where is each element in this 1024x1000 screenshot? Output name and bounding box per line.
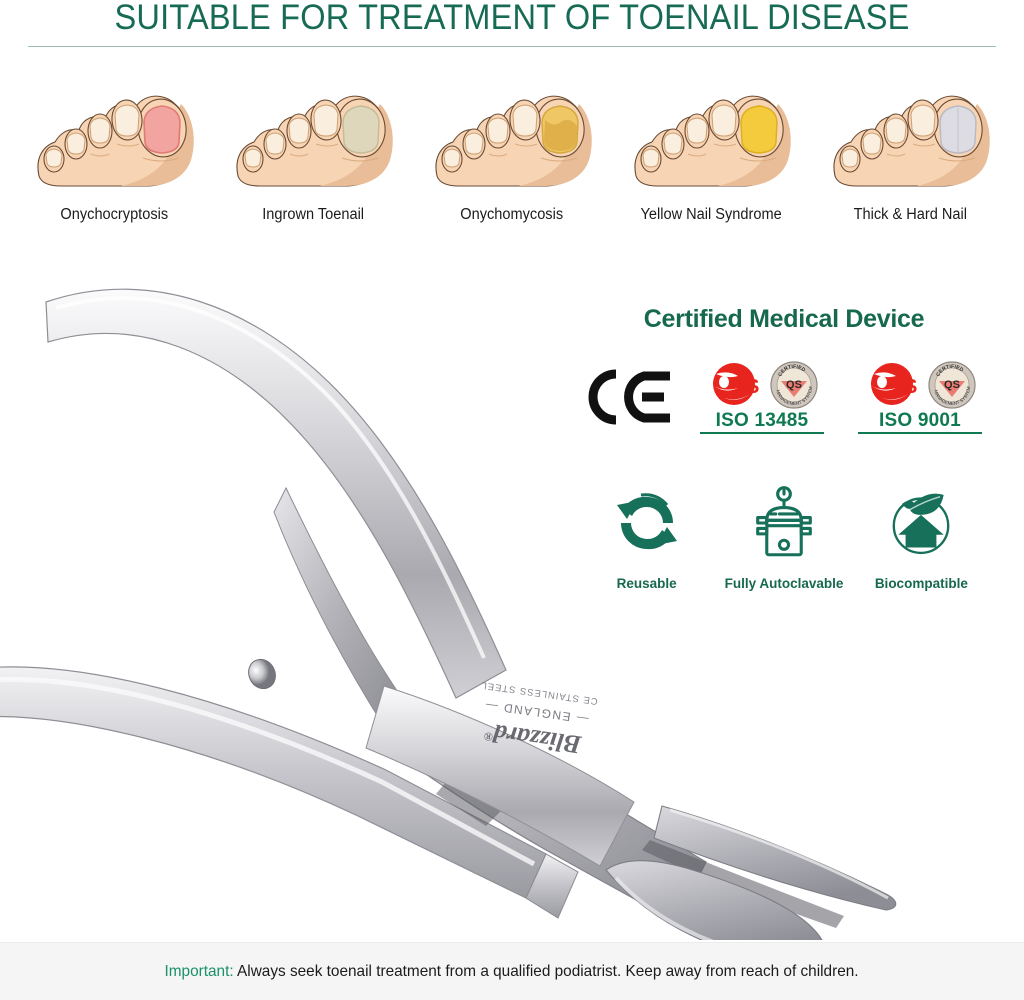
footer-body-text: Always seek toenail treatment from a qua… xyxy=(234,963,859,980)
qs-logo-icon: S xyxy=(864,362,926,408)
iso-9001-badge: S QS CERTIFIED MANAGEMENT SYSTEM xyxy=(850,360,990,434)
condition-item: Thick & Hard Nail xyxy=(812,58,1008,224)
recycle-icon xyxy=(608,480,686,566)
condition-label: Onychocryptosis xyxy=(60,206,168,224)
feature-reusable: Reusable xyxy=(578,480,715,591)
feature-icons-row: Reusable xyxy=(560,480,1008,591)
foot-ingrown-toenail-icon xyxy=(220,58,406,196)
condition-label: Yellow Nail Syndrome xyxy=(640,206,781,224)
condition-label: Onychomycosis xyxy=(461,206,564,224)
iso-underline xyxy=(858,432,982,434)
iso-9001-label: ISO 9001 xyxy=(879,411,961,431)
condition-label: Ingrown Toenail xyxy=(262,206,364,224)
foot-onychocryptosis-icon xyxy=(21,58,207,196)
product-infographic: SUITABLE FOR TREATMENT OF TOENAIL DISEAS… xyxy=(0,0,1024,1000)
condition-item: Onychomycosis xyxy=(414,58,610,224)
pivot-rivet xyxy=(244,655,281,693)
iso-13485-badge: S QS CERTIFIED MANAGEMENT SYSTEM xyxy=(692,360,832,434)
certified-seal-icon: QS CERTIFIED MANAGEMENT SYSTEM xyxy=(770,361,818,409)
iso-13485-label: ISO 13485 xyxy=(716,411,809,431)
footer-text: Important: Always seek toenail treatment… xyxy=(165,963,859,981)
condition-label: Thick & Hard Nail xyxy=(853,206,966,224)
certified-seal-icon: QS CERTIFIED MANAGEMENT SYSTEM xyxy=(928,361,976,409)
foot-onychomycosis-icon xyxy=(419,58,605,196)
header-divider xyxy=(28,46,996,47)
iso-underline xyxy=(700,432,824,434)
condition-item: Yellow Nail Syndrome xyxy=(613,58,809,224)
certified-medical-device-section: Certified Medical Device xyxy=(560,305,1008,591)
leaf-house-icon xyxy=(882,480,960,566)
footer-disclaimer-bar: Important: Always seek toenail treatment… xyxy=(0,942,1024,1000)
seal-center-text: QS xyxy=(944,379,960,391)
foot-thick-hard-nail-icon xyxy=(817,58,1003,196)
feature-label: Fully Autoclavable xyxy=(725,576,844,591)
feature-label: Biocompatible xyxy=(875,576,968,591)
feature-label: Reusable xyxy=(617,576,677,591)
conditions-strip: Onychocryptosis xyxy=(0,58,1024,224)
condition-item: Ingrown Toenail xyxy=(215,58,411,224)
ce-mark-icon xyxy=(578,368,674,426)
certification-badges-row: S QS CERTIFIED MANAGEMENT SYSTEM xyxy=(560,360,1008,434)
svg-text:S: S xyxy=(746,376,759,398)
condition-item: Onychocryptosis xyxy=(16,58,212,224)
page-title: SUITABLE FOR TREATMENT OF TOENAIL DISEAS… xyxy=(36,0,988,38)
certified-heading: Certified Medical Device xyxy=(560,305,1008,334)
foot-yellow-nail-syndrome-icon xyxy=(618,58,804,196)
seal-center-text: QS xyxy=(786,379,802,391)
footer-important-label: Important: xyxy=(165,963,234,980)
svg-text:S: S xyxy=(904,376,917,398)
feature-autoclavable: Fully Autoclavable xyxy=(715,480,852,591)
feature-biocompatible: Biocompatible xyxy=(853,480,990,591)
autoclave-icon xyxy=(745,480,823,566)
qs-logo-icon: S xyxy=(706,362,768,408)
